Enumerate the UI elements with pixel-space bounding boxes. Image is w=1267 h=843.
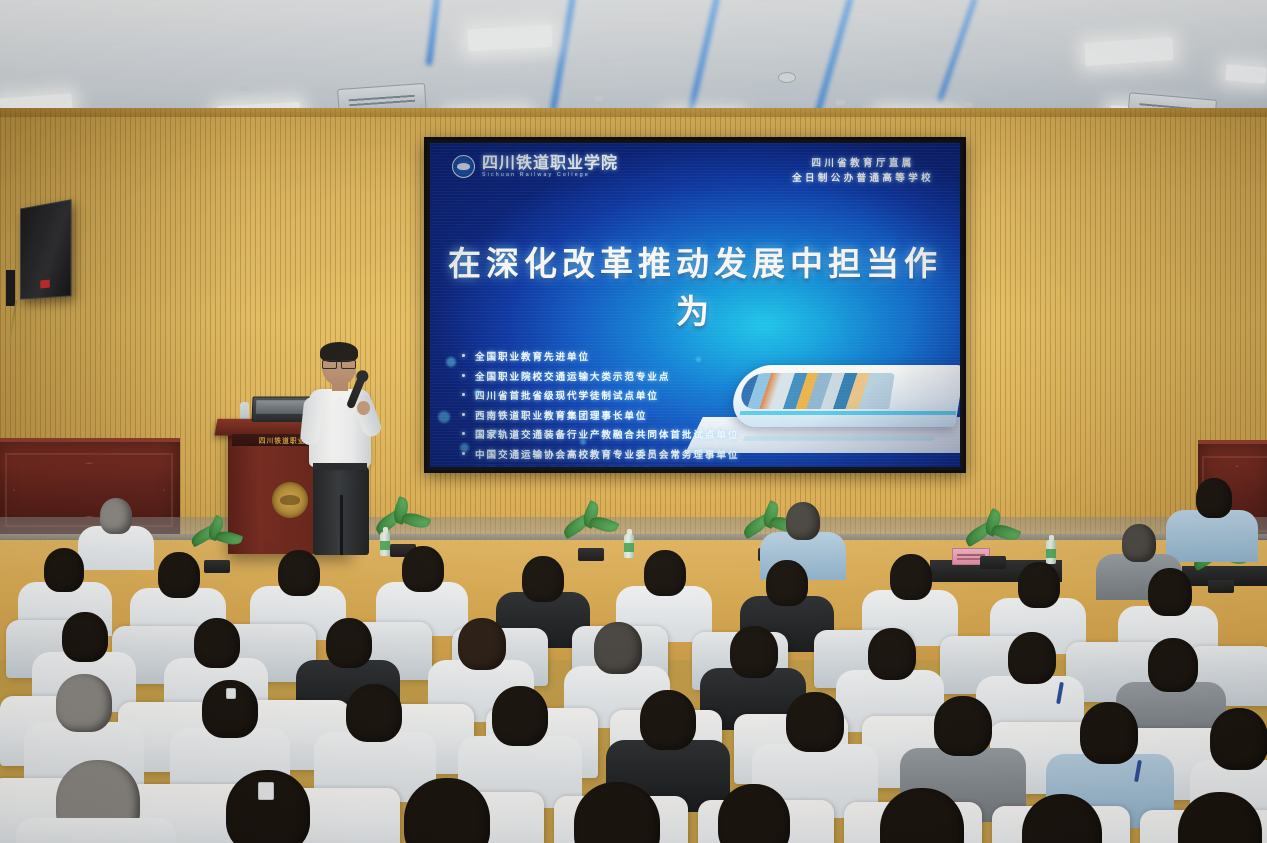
attendee-head bbox=[522, 556, 564, 602]
attendee-head bbox=[934, 696, 992, 756]
attendee-head bbox=[326, 618, 372, 668]
attendee-head bbox=[1196, 478, 1232, 518]
speaker-brand-logo-icon bbox=[40, 280, 50, 289]
attendee-head bbox=[346, 684, 402, 742]
attendee-head bbox=[1148, 638, 1198, 692]
ceiling-panel-light bbox=[1225, 64, 1266, 83]
attendee-head bbox=[1080, 702, 1138, 764]
hair-clip bbox=[226, 688, 236, 699]
attendee-head bbox=[868, 628, 916, 680]
ceiling-panel-light bbox=[467, 25, 552, 51]
attendee-head bbox=[1148, 568, 1192, 616]
smoke-detector-icon bbox=[722, 98, 731, 103]
led-presentation-screen[interactable]: 四川铁道职业学院 Sichuan Railway College 四川省教育厅直… bbox=[424, 137, 966, 473]
attendee-shoulders bbox=[16, 818, 176, 843]
attendee-head bbox=[100, 498, 132, 534]
attendee-head bbox=[730, 626, 778, 678]
attendee-head bbox=[194, 618, 240, 668]
smoke-detector-icon bbox=[594, 96, 603, 101]
hair-clip bbox=[258, 782, 274, 800]
eyeglasses-icon bbox=[322, 360, 356, 367]
smoke-detector-icon bbox=[240, 86, 249, 91]
attendee-head bbox=[786, 502, 820, 540]
attendee-head bbox=[1018, 562, 1060, 608]
attendee-head bbox=[786, 692, 844, 752]
attendee-head bbox=[594, 622, 642, 674]
presenter-hair bbox=[320, 342, 358, 362]
attendee-head bbox=[492, 686, 548, 746]
presenter-hand bbox=[357, 401, 370, 415]
attendee-head bbox=[644, 550, 686, 596]
attendee-head bbox=[890, 554, 932, 600]
presenter-belt bbox=[313, 463, 367, 470]
ceiling-camera-dome bbox=[778, 72, 796, 83]
smoke-detector-icon bbox=[836, 100, 845, 105]
speaker-mount-bracket bbox=[6, 270, 15, 306]
photo-scene: 四川铁道职业学院 Sichuan Railway College 四川省教育厅直… bbox=[0, 0, 1267, 843]
attendee-head bbox=[62, 612, 108, 662]
attendee-head bbox=[1008, 632, 1056, 684]
attendee-head bbox=[226, 770, 310, 843]
smoke-detector-icon bbox=[964, 102, 973, 107]
attendee-head bbox=[56, 674, 112, 732]
attendee-head bbox=[1122, 524, 1156, 562]
slide-canvas: 四川铁道职业学院 Sichuan Railway College 四川省教育厅直… bbox=[430, 143, 960, 467]
attendee-head bbox=[158, 552, 200, 598]
audience-area bbox=[0, 470, 1267, 843]
attendee-head bbox=[766, 560, 808, 606]
attendee-head bbox=[458, 618, 506, 670]
attendee-head bbox=[1210, 708, 1267, 770]
led-scanline-overlay bbox=[430, 143, 960, 467]
attendee-head bbox=[640, 690, 696, 750]
wall-speaker bbox=[20, 199, 71, 299]
attendee-head bbox=[278, 550, 320, 596]
attendee-head bbox=[44, 548, 84, 592]
attendee-head bbox=[402, 546, 444, 592]
